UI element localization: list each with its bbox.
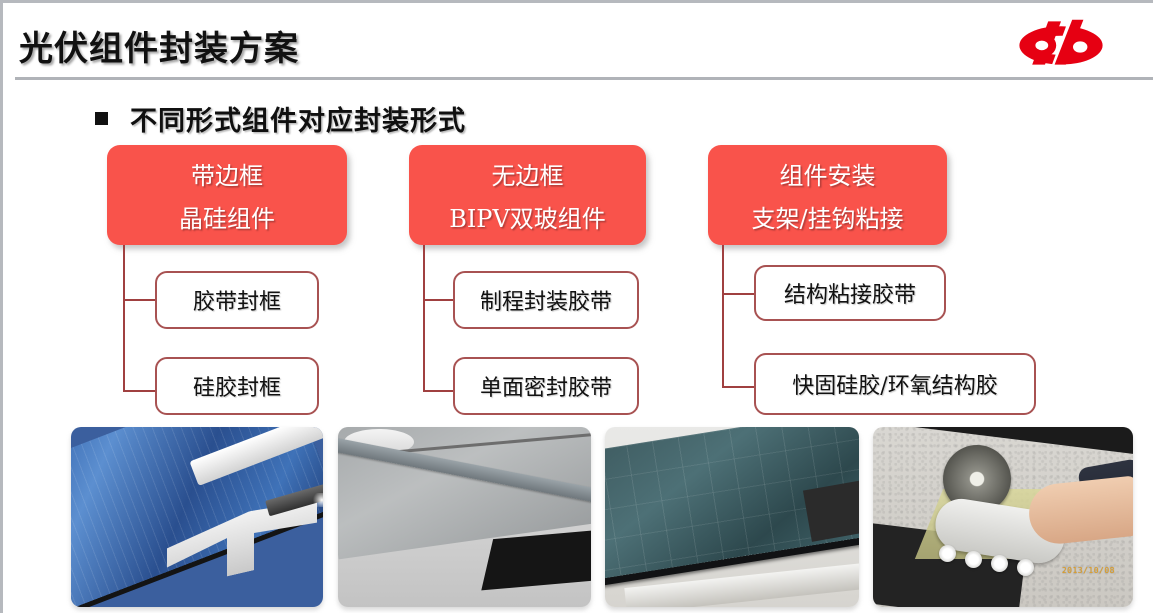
diagram-column-1: 带边框 晶硅组件 胶带封框 硅胶封框 — [107, 145, 347, 245]
sub-box-1-1[interactable]: 胶带封框 — [155, 271, 319, 329]
connector-branch-1-2 — [123, 390, 157, 392]
bullet-text: 不同形式组件对应封装形式 — [130, 99, 466, 138]
head-box-3-line2: 支架/挂钩粘接 — [751, 199, 903, 234]
head-box-1-line1: 带边框 — [191, 156, 263, 191]
head-box-2-line2: BIPV双玻组件 — [449, 199, 606, 234]
slide: 光伏组件封装方案 不同形式组件对应封装形式 带边框 晶硅组件 — [0, 0, 1153, 613]
head-box-3-line1: 组件安装 — [780, 156, 876, 191]
connector-trunk-1 — [123, 245, 125, 392]
tape-applicator-hand-photo: 2013/10/08 — [873, 427, 1133, 607]
sub-box-1-2-label: 硅胶封框 — [193, 370, 281, 402]
connector-branch-2-1 — [423, 299, 455, 301]
bullet-line: 不同形式组件对应封装形式 — [95, 99, 466, 138]
slide-header: 光伏组件封装方案 — [3, 3, 1153, 79]
connector-branch-3-1 — [722, 293, 756, 295]
head-box-1-line2: 晶硅组件 — [179, 199, 275, 234]
framed-crystalline-module-photo — [71, 427, 323, 607]
head-box-2[interactable]: 无边框 BIPV双玻组件 — [409, 145, 646, 245]
header-divider — [15, 77, 1153, 80]
glass-edge-sealing-tape-photo — [338, 427, 591, 607]
connector-branch-2-2 — [423, 390, 455, 392]
sub-box-2-1[interactable]: 制程封装胶带 — [453, 271, 639, 329]
page-title: 光伏组件封装方案 — [19, 21, 299, 70]
sub-box-1-2[interactable]: 硅胶封框 — [155, 357, 319, 415]
connector-branch-1-1 — [123, 299, 157, 301]
db-logo-icon — [1013, 17, 1109, 69]
connector-trunk-3 — [722, 245, 724, 388]
sub-box-2-2[interactable]: 单面密封胶带 — [453, 357, 639, 415]
sub-box-3-2-label: 快固硅胶/环氧结构胶 — [792, 368, 997, 400]
sub-box-1-1-label: 胶带封框 — [193, 284, 281, 316]
head-box-3[interactable]: 组件安装 支架/挂钩粘接 — [708, 145, 947, 245]
head-box-2-line1: 无边框 — [492, 156, 564, 191]
diagram-column-3: 组件安装 支架/挂钩粘接 结构粘接胶带 快固硅胶/环氧结构胶 — [708, 145, 947, 245]
connector-trunk-2 — [423, 245, 425, 392]
double-glass-module-photo — [605, 427, 859, 607]
photo-strip: 2013/10/08 — [71, 427, 1149, 612]
connector-branch-3-2 — [722, 386, 756, 388]
sub-box-2-1-label: 制程封装胶带 — [480, 284, 612, 316]
sub-box-3-1-label: 结构粘接胶带 — [784, 277, 916, 309]
diagram-column-2: 无边框 BIPV双玻组件 制程封装胶带 单面密封胶带 — [409, 145, 646, 245]
photo-timestamp: 2013/10/08 — [1062, 566, 1115, 575]
sub-box-2-2-label: 单面密封胶带 — [480, 370, 612, 402]
head-box-1[interactable]: 带边框 晶硅组件 — [107, 145, 347, 245]
sub-box-3-1[interactable]: 结构粘接胶带 — [754, 265, 946, 321]
sub-box-3-2[interactable]: 快固硅胶/环氧结构胶 — [754, 353, 1036, 415]
square-bullet-icon — [95, 112, 108, 125]
